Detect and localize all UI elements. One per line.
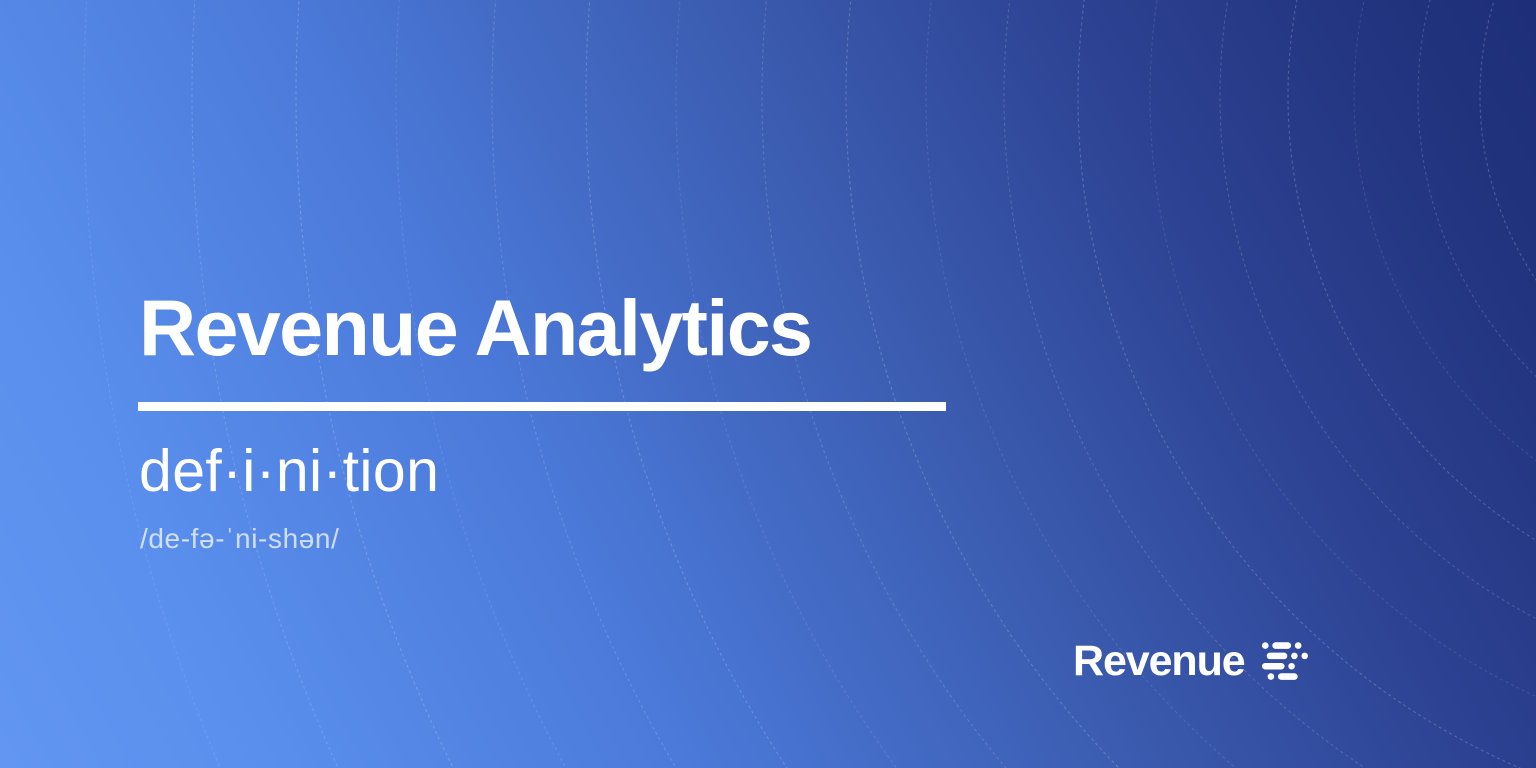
mark-dash	[1266, 652, 1287, 659]
promo-banner: Revenue Analytics def·i·ni·tion /de-fə-ˈ…	[0, 0, 1536, 768]
mark-dot	[1301, 652, 1308, 659]
mark-dash	[1272, 642, 1291, 649]
mark-dash	[1278, 673, 1298, 680]
mark-dot	[1288, 662, 1295, 669]
arc-line	[1288, 0, 1536, 618]
arc-line	[1418, 0, 1536, 488]
definition-term: def·i·ni·tion	[139, 441, 439, 503]
mark-dash	[1262, 662, 1285, 669]
mark-dot	[1262, 642, 1269, 649]
title-divider-rule	[138, 402, 946, 411]
brand-logo[interactable]: Revenue	[1073, 640, 1308, 683]
mark-dot	[1294, 642, 1301, 649]
page-title: Revenue Analytics	[139, 288, 811, 369]
mark-dot	[1291, 652, 1298, 659]
mark-dot	[1267, 673, 1274, 680]
logo-wordmark: Revenue	[1073, 640, 1245, 683]
arc-line	[1480, 0, 1536, 426]
revenue-dash-dot-mark-icon	[1262, 641, 1308, 683]
arc-line	[1220, 0, 1536, 686]
hero-content: Revenue Analytics def·i·ni·tion /de-fə-ˈ…	[139, 0, 1139, 768]
phonetic-pronunciation: /de-fə-ˈni-shən/	[140, 522, 339, 556]
